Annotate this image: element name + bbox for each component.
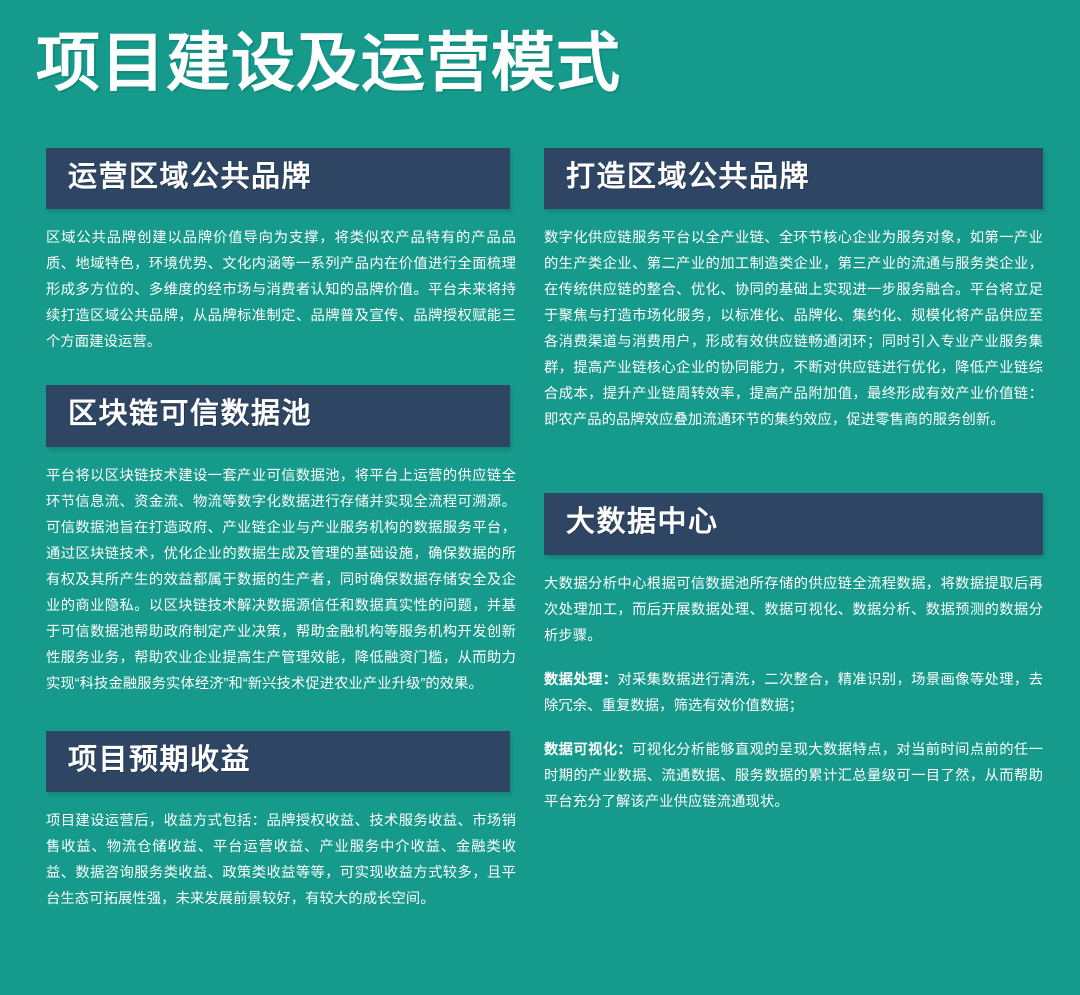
section-blockchain-trusted-data-pool: 区块链可信数据池 平台将以区块链技术建设一套产业可信数据池，将平台上运营的供应链… — [46, 385, 510, 696]
term-paragraph-data-processing: 数据处理：对采集数据进行清洗，二次整合，精准识别，场景画像等处理，去除冗余、重复… — [544, 667, 1043, 719]
term-text: 对采集数据进行清洗，二次整合，精准识别，场景画像等处理，去除冗余、重复数据，筛选… — [544, 672, 1043, 714]
left-column: 运营区域公共品牌 区域公共品牌创建以品牌价值导向为支撑，将类似农产品特有的产品品… — [0, 148, 510, 912]
section-header-project-expected-revenue: 项目预期收益 — [46, 731, 510, 792]
term-label: 数据处理： — [544, 672, 617, 688]
section-header-label: 大数据中心 — [566, 506, 1043, 539]
section-body-build-regional-brand: 数字化供应链服务平台以全产业链、全环节核心企业为服务对象，如第一产业的生产类企业… — [544, 225, 1043, 433]
content-columns: 运营区域公共品牌 区域公共品牌创建以品牌价值导向为支撑，将类似农产品特有的产品品… — [0, 148, 1080, 912]
section-header-label: 打造区域公共品牌 — [566, 161, 1043, 194]
section-header-label: 项目预期收益 — [68, 744, 510, 777]
section-header-label: 区块链可信数据池 — [68, 398, 510, 431]
section-big-data-center: 大数据中心 大数据分析中心根据可信数据池所存储的供应链全流程数据，将数据提取后再… — [544, 493, 1043, 814]
section-header-blockchain-trusted-data-pool: 区块链可信数据池 — [46, 385, 510, 446]
paragraph: 大数据分析中心根据可信数据池所存储的供应链全流程数据，将数据提取后再次处理加工，… — [544, 571, 1043, 649]
paragraph: 区域公共品牌创建以品牌价值导向为支撑，将类似农产品特有的产品品质、地域特色，环境… — [46, 225, 516, 355]
term-label: 数据可视化： — [544, 742, 632, 758]
section-body-project-expected-revenue: 项目建设运营后，收益方式包括：品牌授权收益、技术服务收益、市场销售收益、物流仓储… — [46, 808, 516, 912]
section-body-operate-regional-brand: 区域公共品牌创建以品牌价值导向为支撑，将类似农产品特有的产品品质、地域特色，环境… — [46, 225, 516, 355]
term-paragraph-data-visualization: 数据可视化：可视化分析能够直观的呈现大数据特点，对当前时间点前的任一时期的产业数… — [544, 737, 1043, 815]
section-operate-regional-brand: 运营区域公共品牌 区域公共品牌创建以品牌价值导向为支撑，将类似农产品特有的产品品… — [46, 148, 510, 355]
section-body-big-data-center: 大数据分析中心根据可信数据池所存储的供应链全流程数据，将数据提取后再次处理加工，… — [544, 571, 1043, 815]
section-project-expected-revenue: 项目预期收益 项目建设运营后，收益方式包括：品牌授权收益、技术服务收益、市场销售… — [46, 731, 510, 912]
paragraph: 平台将以区块链技术建设一套产业可信数据池，将平台上运营的供应链全环节信息流、资金… — [46, 463, 516, 697]
section-body-blockchain-trusted-data-pool: 平台将以区块链技术建设一套产业可信数据池，将平台上运营的供应链全环节信息流、资金… — [46, 463, 516, 697]
section-header-label: 运营区域公共品牌 — [68, 161, 510, 194]
section-header-operate-regional-brand: 运营区域公共品牌 — [46, 148, 510, 209]
section-build-regional-brand: 打造区域公共品牌 数字化供应链服务平台以全产业链、全环节核心企业为服务对象，如第… — [544, 148, 1043, 433]
right-column: 打造区域公共品牌 数字化供应链服务平台以全产业链、全环节核心企业为服务对象，如第… — [510, 148, 1080, 815]
poster-page: 项目建设及运营模式 运营区域公共品牌 区域公共品牌创建以品牌价值导向为支撑，将类… — [0, 0, 1080, 995]
paragraph: 数字化供应链服务平台以全产业链、全环节核心企业为服务对象，如第一产业的生产类企业… — [544, 225, 1043, 433]
section-header-big-data-center: 大数据中心 — [544, 493, 1043, 554]
page-title: 项目建设及运营模式 — [36, 27, 621, 101]
paragraph: 项目建设运营后，收益方式包括：品牌授权收益、技术服务收益、市场销售收益、物流仓储… — [46, 808, 516, 912]
section-header-build-regional-brand: 打造区域公共品牌 — [544, 148, 1043, 209]
